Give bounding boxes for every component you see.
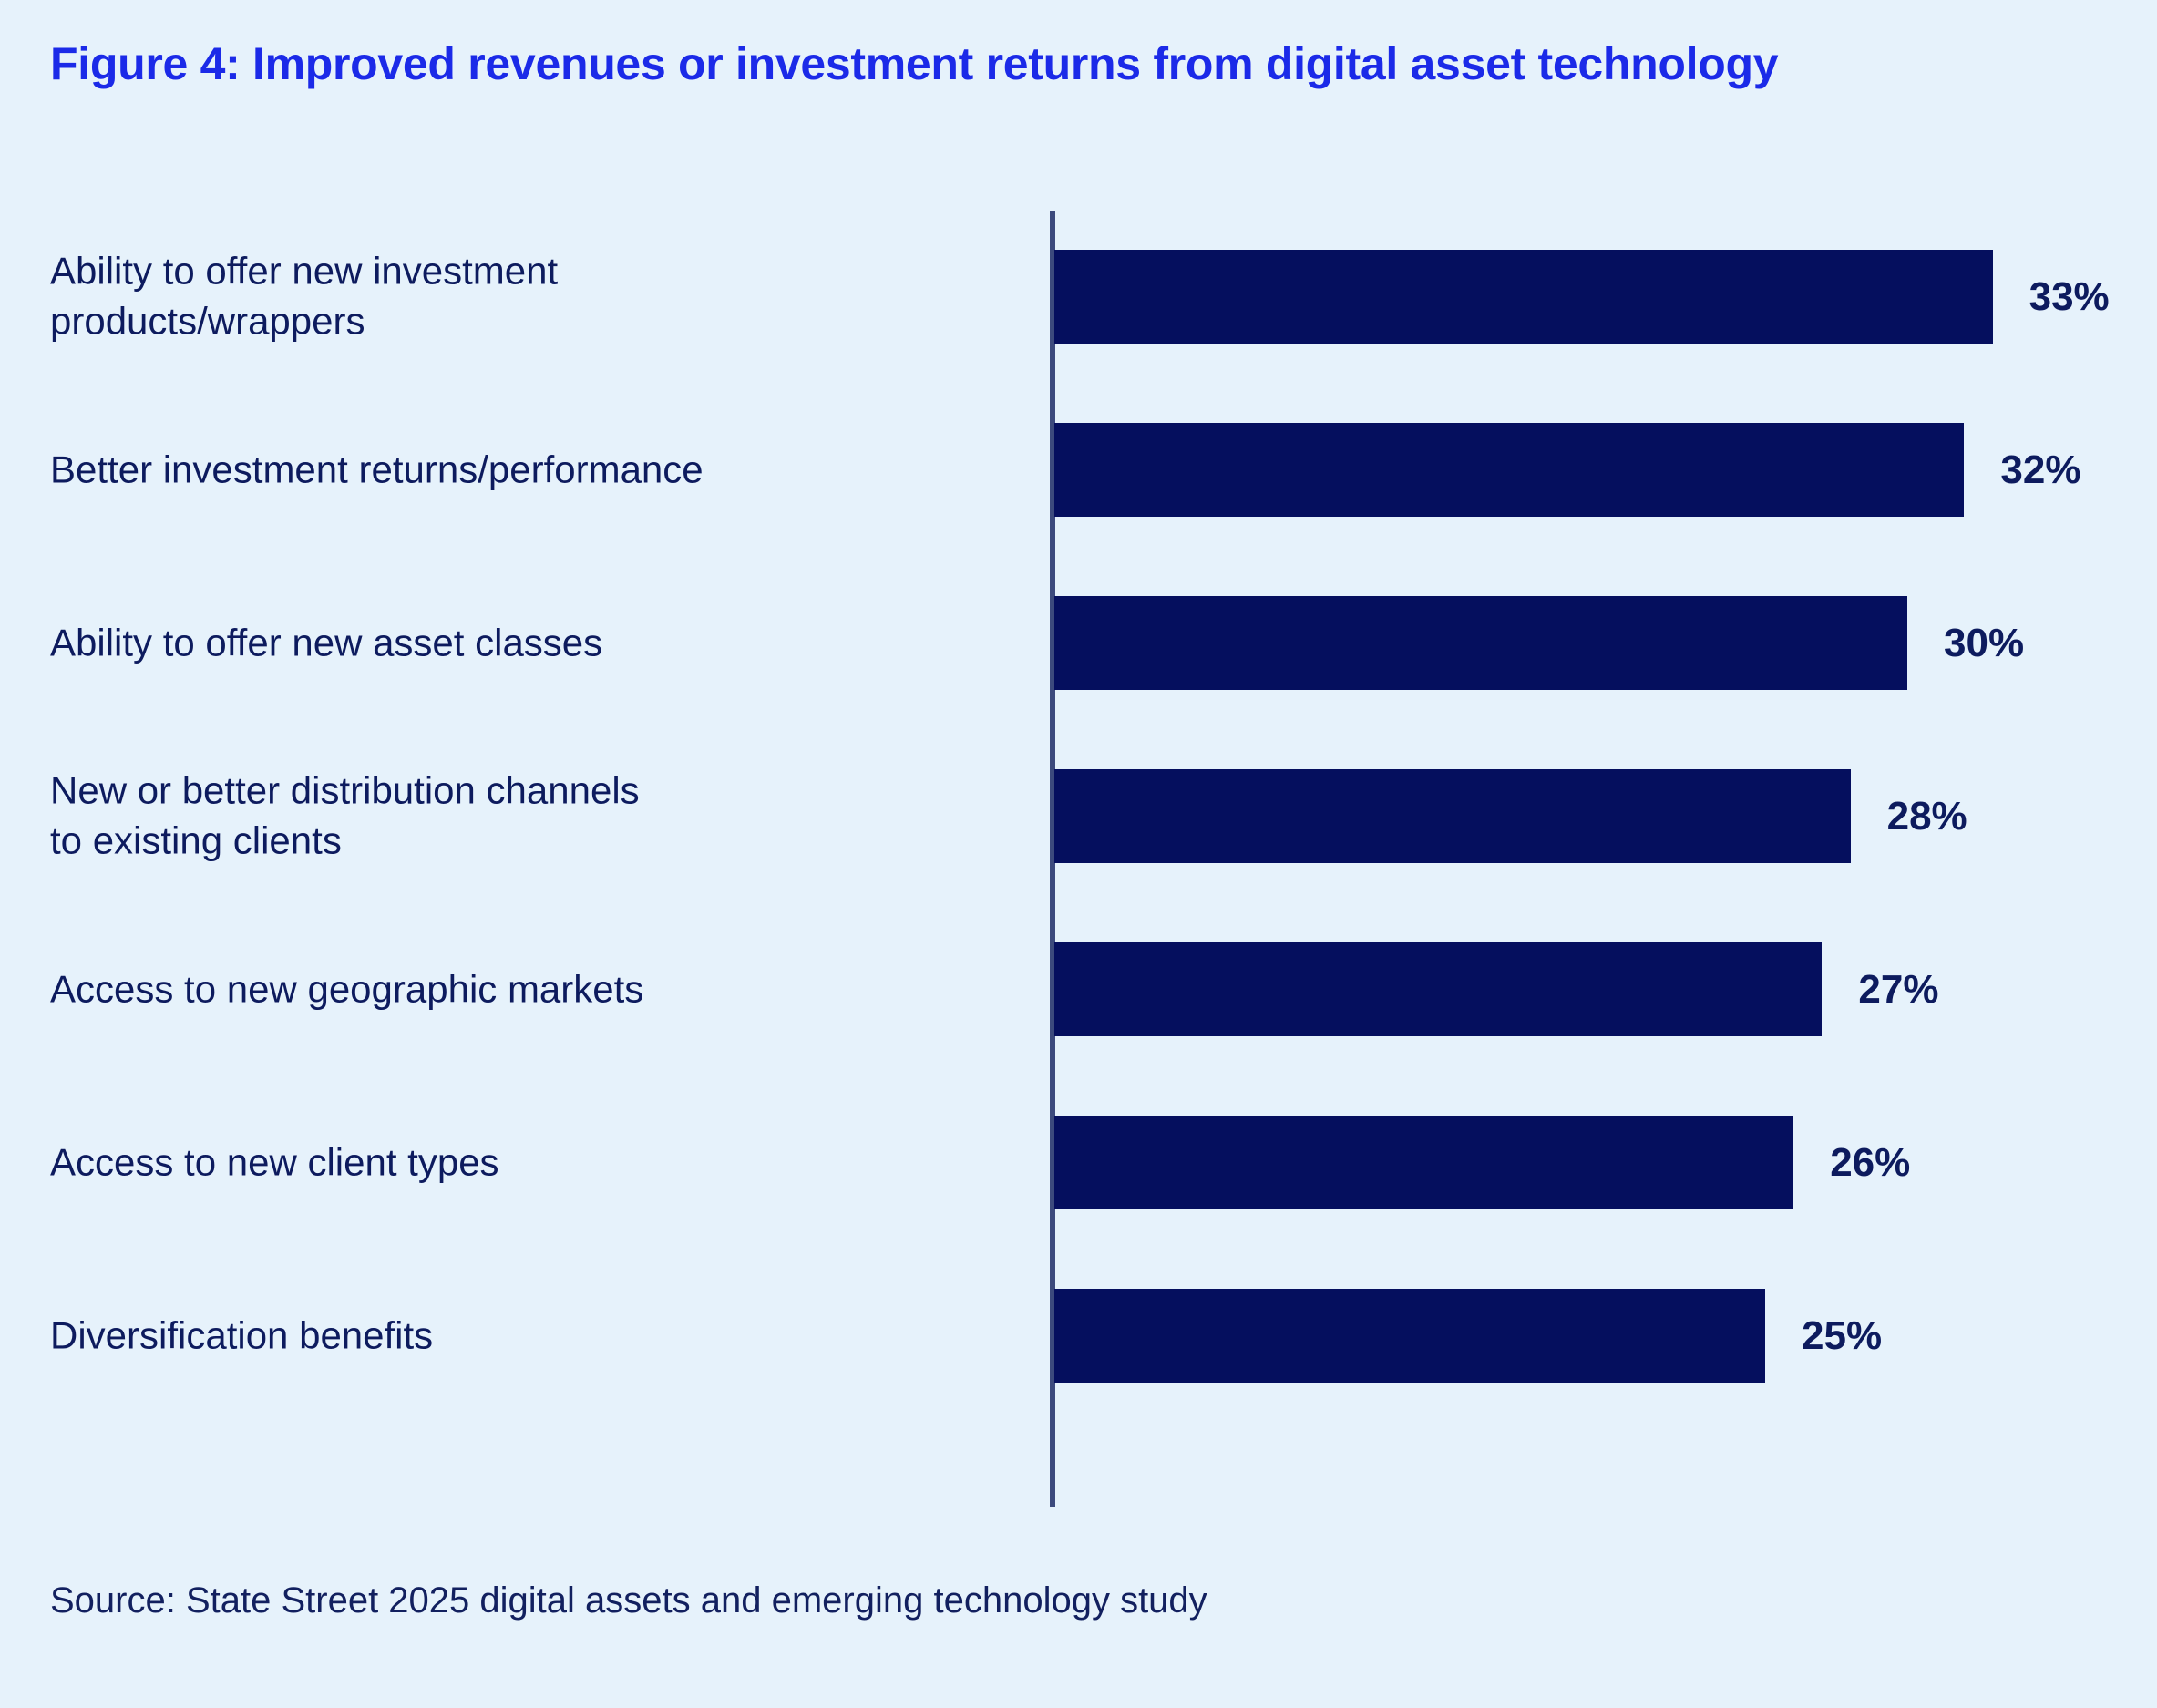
bar-value-label: 33% [2029, 277, 2110, 317]
page-title: Figure 4: Improved revenues or investmen… [50, 38, 1778, 89]
bar-row: Access to new geographic markets27% [0, 902, 2157, 1075]
category-label: Better investment returns/performance [50, 444, 1016, 494]
bar-with-value: 26% [1054, 1116, 1910, 1209]
bar-row: Access to new client types26% [0, 1075, 2157, 1249]
category-label: Ability to offer new investment products… [50, 246, 1016, 347]
bar [1054, 942, 1822, 1036]
category-label: Access to new geographic markets [50, 963, 1016, 1013]
bar-value-label: 26% [1830, 1143, 1910, 1183]
bar-value-label: 25% [1802, 1316, 1882, 1356]
bar-with-value: 32% [1054, 423, 2080, 517]
figure-container: Figure 4: Improved revenues or investmen… [0, 0, 2157, 1708]
bar-with-value: 28% [1054, 769, 1967, 863]
bar-value-label: 27% [1858, 970, 1938, 1010]
bar-with-value: 27% [1054, 942, 1938, 1036]
chart-plot-area: Ability to offer new investment products… [0, 210, 2157, 1508]
bar-row: Better investment returns/performance32% [0, 383, 2157, 556]
bar-row: Diversification benefits25% [0, 1249, 2157, 1422]
bar-row: Ability to offer new asset classes30% [0, 556, 2157, 729]
category-label: Diversification benefits [50, 1310, 1016, 1360]
bar [1054, 596, 1907, 690]
bar [1054, 250, 1993, 344]
bar-value-label: 32% [2000, 450, 2080, 490]
bar [1054, 1289, 1765, 1383]
bar [1054, 423, 1964, 517]
category-label: Access to new client types [50, 1137, 1016, 1187]
bar [1054, 769, 1851, 863]
bar-value-label: 28% [1887, 797, 1967, 837]
bar [1054, 1116, 1793, 1209]
bar-value-label: 30% [1944, 623, 2024, 664]
bar-rows: Ability to offer new investment products… [0, 210, 2157, 1508]
bar-with-value: 33% [1054, 250, 2110, 344]
bar-with-value: 30% [1054, 596, 2024, 690]
bar-with-value: 25% [1054, 1289, 1882, 1383]
bar-row: New or better distribution channels to e… [0, 729, 2157, 902]
source-note: Source: State Street 2025 digital assets… [50, 1580, 1207, 1621]
category-label: New or better distribution channels to e… [50, 766, 1016, 867]
category-label: Ability to offer new asset classes [50, 617, 1016, 667]
bar-row: Ability to offer new investment products… [0, 210, 2157, 383]
